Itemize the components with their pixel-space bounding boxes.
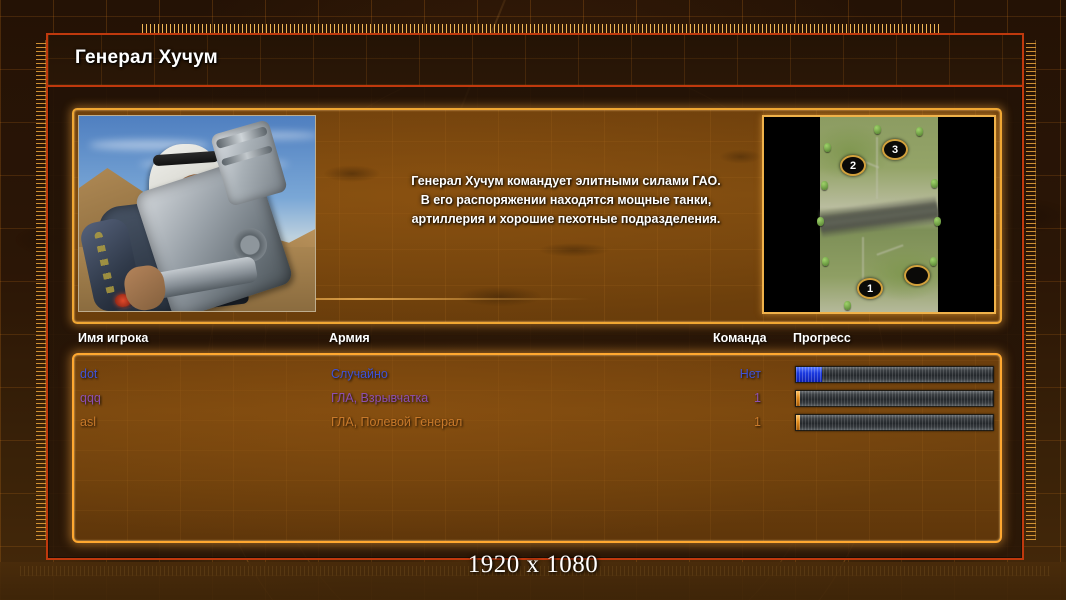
minimap[interactable]: 2 3 1: [764, 117, 994, 312]
player-progress-bar: [795, 366, 994, 383]
table-row[interactable]: asl ГЛА, Полевой Генерал 1: [74, 411, 1000, 435]
general-portrait: [78, 115, 316, 312]
header-army: Армия: [329, 331, 370, 345]
minimap-tree: [930, 257, 937, 266]
page-title: Генерал Хучум: [75, 47, 218, 69]
ruler-strip-right: [1026, 40, 1036, 540]
player-army[interactable]: ГЛА, Взрывчатка: [331, 391, 428, 405]
title-bar: Генерал Хучум: [48, 35, 1022, 87]
header-team: Команда: [713, 331, 767, 345]
minimap-tree: [931, 179, 938, 188]
player-team[interactable]: 1: [715, 391, 761, 405]
player-name[interactable]: qqq: [80, 391, 101, 405]
minimap-marker-label: 2: [850, 160, 856, 172]
description-line-2: В его распоряжении находятся мощные танк…: [326, 191, 806, 210]
minimap-frame[interactable]: 2 3 1: [762, 115, 996, 314]
description-line-1: Генерал Хучум командует элитными силами …: [326, 172, 806, 191]
description-line-3: артиллерия и хорошие пехотные подразделе…: [326, 210, 806, 229]
player-progress-bar: [795, 390, 994, 407]
general-info-panel: Генерал Хучум командует элитными силами …: [72, 108, 1002, 324]
resolution-label: 1920 x 1080: [0, 551, 1066, 579]
table-row[interactable]: qqq ГЛА, Взрывчатка 1: [74, 387, 1000, 411]
player-progress-bar: [795, 414, 994, 431]
minimap-start-marker[interactable]: 2: [840, 155, 866, 176]
player-team[interactable]: Нет: [715, 367, 761, 381]
player-list-panel: dot Случайно Нет qqq ГЛА, Взрывчатка 1 a…: [72, 353, 1002, 543]
minimap-tree: [822, 257, 829, 266]
table-row[interactable]: dot Случайно Нет: [74, 363, 1000, 387]
minimap-tree: [934, 217, 941, 226]
minimap-tree: [874, 125, 881, 134]
player-name[interactable]: dot: [80, 367, 97, 381]
player-progress-fill: [796, 367, 822, 382]
main-panel: Генерал Хучум: [46, 33, 1024, 560]
minimap-tree: [817, 217, 824, 226]
minimap-start-marker[interactable]: 1: [857, 278, 883, 299]
minimap-marker-label: 1: [867, 283, 873, 295]
game-setup-screen: Генерал Хучум: [0, 0, 1066, 600]
minimap-start-marker-empty[interactable]: [904, 265, 930, 286]
player-army[interactable]: Случайно: [331, 367, 388, 381]
player-table-headers: Имя игрока Армия Команда Прогресс: [72, 331, 998, 353]
header-progress: Прогресс: [793, 331, 851, 345]
minimap-tree: [916, 127, 923, 136]
minimap-marker-label: 3: [892, 144, 898, 156]
player-name[interactable]: asl: [80, 415, 96, 429]
minimap-start-marker[interactable]: 3: [882, 139, 908, 160]
minimap-tree: [821, 181, 828, 190]
player-progress-fill: [796, 415, 800, 430]
general-description: Генерал Хучум командует элитными силами …: [326, 172, 806, 229]
header-player-name: Имя игрока: [78, 331, 148, 345]
player-team[interactable]: 1: [715, 415, 761, 429]
player-progress-fill: [796, 391, 800, 406]
minimap-tree: [824, 143, 831, 152]
player-army[interactable]: ГЛА, Полевой Генерал: [331, 415, 462, 429]
ruler-strip-left: [36, 40, 46, 540]
minimap-tree: [844, 301, 851, 310]
